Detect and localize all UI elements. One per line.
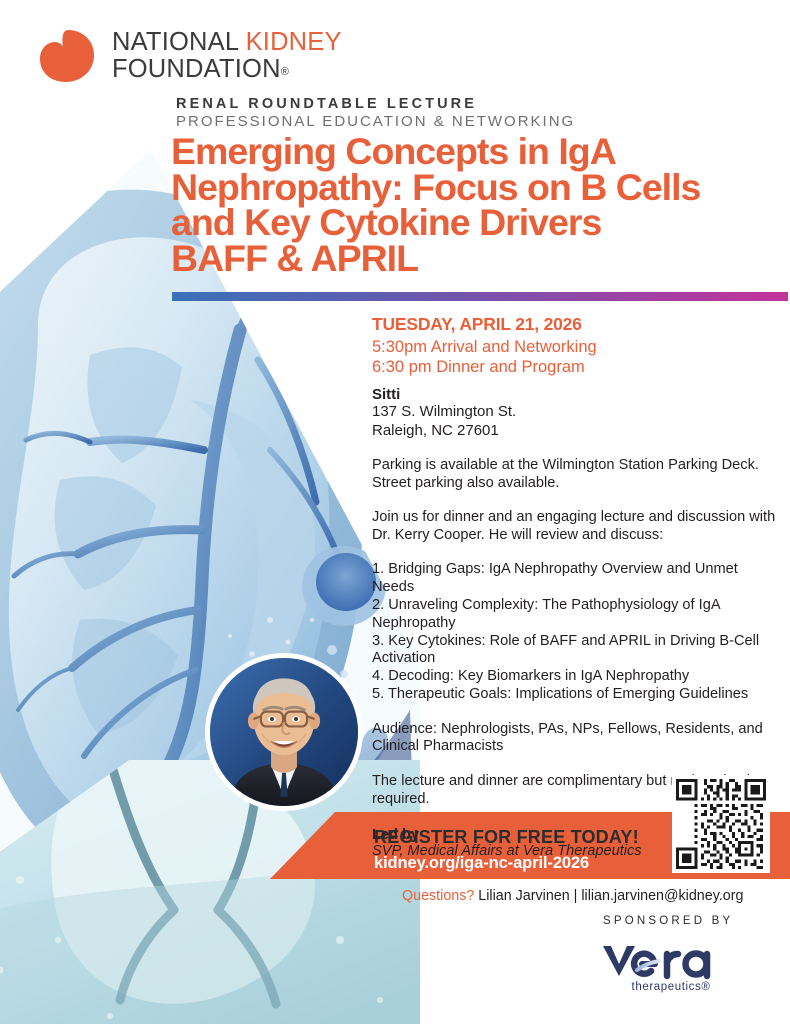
kidney-logo-icon — [38, 28, 100, 84]
agenda-item: 4. Decoding: Key Biomarkers in IgA Nephr… — [372, 668, 776, 686]
qr-code[interactable] — [672, 775, 770, 873]
qr-code-image — [676, 779, 766, 869]
parking-info: Parking is available at the Wilmington S… — [372, 457, 776, 492]
contact-details: Lilian Jarvinen | lilian.jarvinen@kidney… — [478, 888, 743, 904]
venue-name: Sitti — [372, 386, 776, 403]
vera-therapeutics-logo-icon: therapeutics® — [597, 938, 745, 994]
agenda-item: 5. Therapeutic Goals: Implications of Em… — [372, 686, 776, 704]
gradient-divider — [172, 292, 788, 301]
register-url[interactable]: kidney.org/iga-nc-april-2026 — [374, 854, 639, 873]
register-headline: REGISTER FOR FREE TODAY! — [374, 827, 639, 848]
venue-city: Raleigh, NC 27601 — [372, 422, 776, 441]
contact-line: Questions? Lilian Jarvinen | lilian.jarv… — [402, 888, 743, 904]
speaker-avatar — [205, 653, 363, 811]
vera-logo: therapeutics® — [597, 938, 745, 999]
nkf-logo: NATIONAL KIDNEY FOUNDATION® — [38, 28, 342, 84]
flyer-page: NATIONAL KIDNEY FOUNDATION® RENAL ROUNDT… — [0, 0, 790, 1024]
event-time-dinner: 6:30 pm Dinner and Program — [372, 357, 776, 377]
audience-info: Audience: Nephrologists, PAs, NPs, Fello… — [372, 721, 776, 756]
logo-foundation: FOUNDATION — [112, 55, 281, 83]
title-line-1: Emerging Concepts in IgA — [171, 134, 783, 170]
intro-text: Join us for dinner and an engaging lectu… — [372, 509, 776, 544]
title-line-3: and Key Cytokine Drivers — [171, 205, 783, 241]
event-time-arrival: 5:30pm Arrival and Networking — [372, 337, 776, 357]
speaker-photo — [210, 658, 358, 806]
logo-kidney: KIDNEY — [246, 28, 342, 56]
agenda-item: 2. Unraveling Complexity: The Pathophysi… — [372, 597, 776, 633]
logo-national: NATIONAL — [112, 28, 246, 56]
sponsored-by-label: SPONSORED BY — [603, 915, 733, 927]
event-date: TUESDAY, APRIL 21, 2026 — [372, 314, 776, 335]
page-title: Emerging Concepts in IgA Nephropathy: Fo… — [171, 134, 783, 276]
title-line-2: Nephropathy: Focus on B Cells — [171, 170, 783, 206]
kicker-lecture: RENAL ROUNDTABLE LECTURE — [176, 96, 477, 112]
title-line-4: BAFF & APRIL — [171, 241, 783, 277]
agenda-item: 3. Key Cytokines: Role of BAFF and APRIL… — [372, 633, 776, 669]
kicker-subtitle: PROFESSIONAL EDUCATION & NETWORKING — [176, 113, 575, 130]
agenda-item: 1. Bridging Gaps: IgA Nephropathy Overvi… — [372, 561, 776, 597]
register-text-group: REGISTER FOR FREE TODAY! kidney.org/iga-… — [374, 827, 639, 873]
questions-label: Questions? — [402, 888, 478, 904]
registered-mark-icon: ® — [281, 66, 289, 78]
agenda-list: 1. Bridging Gaps: IgA Nephropathy Overvi… — [372, 561, 776, 703]
venue-street: 137 S. Wilmington St. — [372, 403, 776, 422]
svg-text:therapeutics®: therapeutics® — [632, 981, 711, 993]
